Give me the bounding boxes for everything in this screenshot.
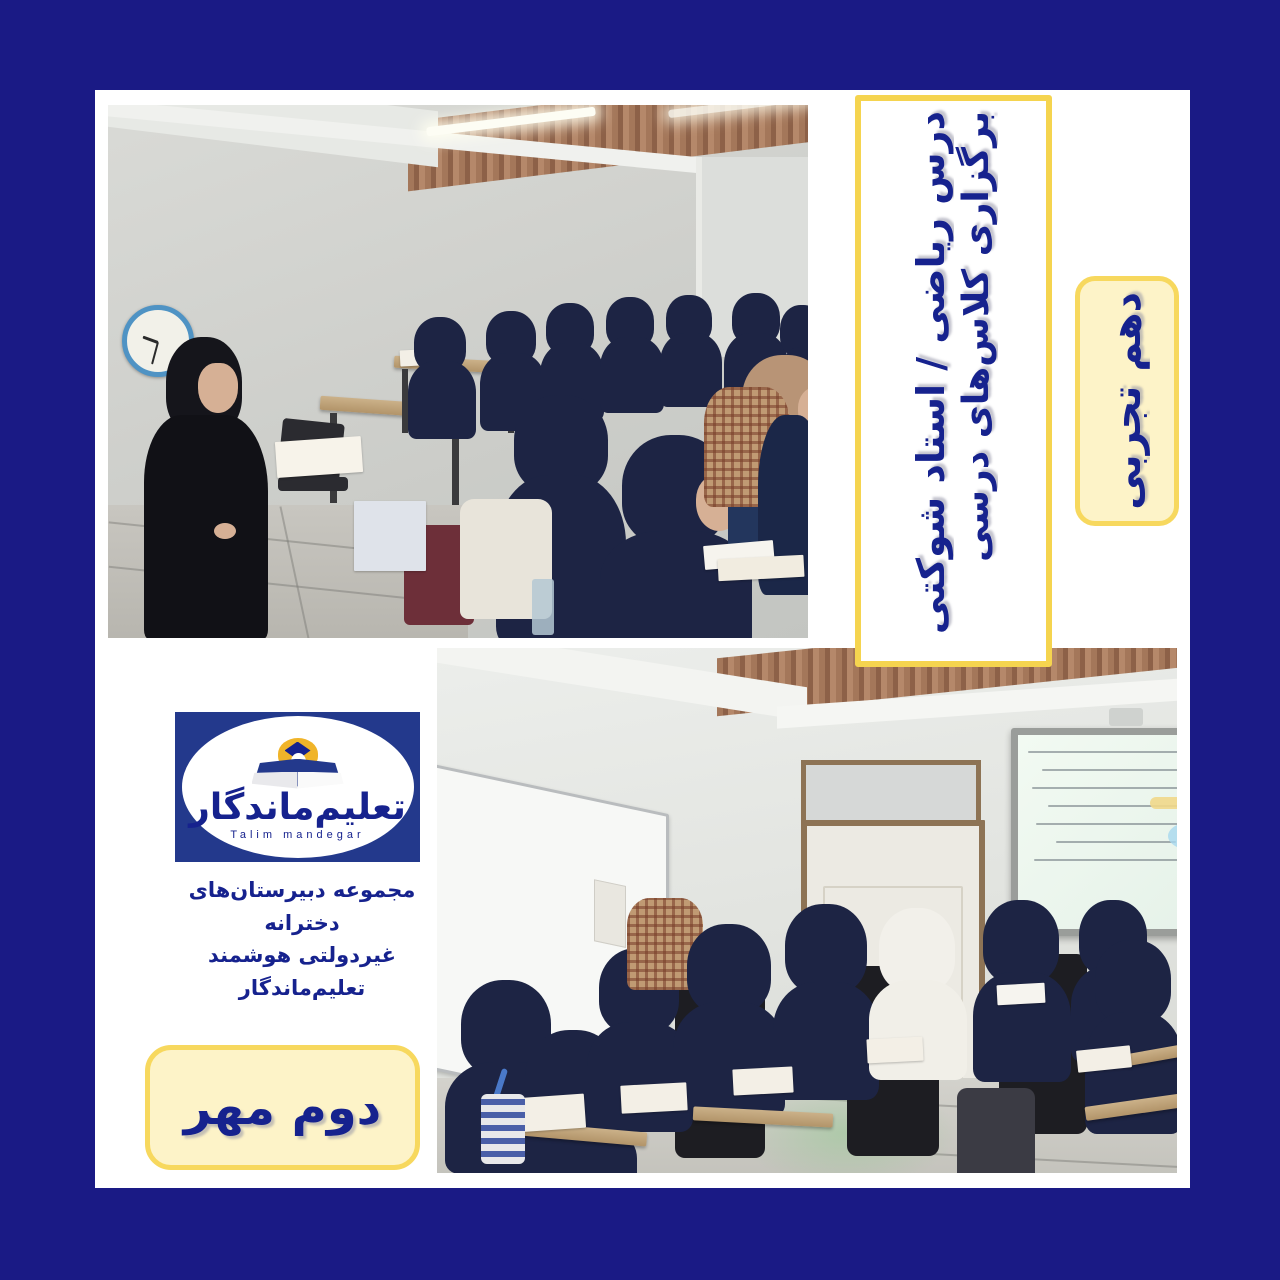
- logo-oval: تعلیم‌ماندگار Talim mandegar: [182, 716, 414, 858]
- organization-line-2: غیردولتی هوشمند تعلیم‌ماندگار: [157, 939, 447, 1004]
- notebook: [866, 1037, 923, 1064]
- screen-text-line: [1032, 787, 1177, 789]
- book-page-left-outer: [252, 772, 298, 789]
- water-bottle: [532, 579, 554, 635]
- screen-bubble: [1168, 821, 1177, 851]
- screen-text-line: [1042, 769, 1177, 771]
- teacher-hand: [214, 523, 236, 539]
- screen-text-line: [1034, 859, 1177, 861]
- student: [660, 295, 724, 403]
- student-body: [869, 980, 967, 1080]
- student: [600, 297, 666, 407]
- organization-text: مجموعه دبیرستان‌های دخترانه غیردولتی هوش…: [157, 874, 447, 1004]
- grade-chip: دهم تجربی: [1075, 276, 1179, 526]
- student-hijab: [687, 924, 771, 1014]
- book-page-right-outer: [298, 772, 344, 789]
- logo-wordmark: تعلیم‌ماندگار: [189, 790, 406, 826]
- backpack: [957, 1088, 1035, 1173]
- photo-scene-top: [108, 105, 808, 638]
- notebook: [997, 983, 1046, 1005]
- title-line-2: درس ریاضی / استاد شوکتی: [912, 111, 952, 634]
- smart-classroom-interactive-board-photo: [437, 648, 1177, 1173]
- notebook: [620, 1082, 687, 1113]
- photo-scene-bottom: [437, 648, 1177, 1173]
- student-body: [673, 1002, 785, 1118]
- date-chip: دوم مهر: [145, 1045, 420, 1170]
- date-chip-label: دوم مهر: [184, 1080, 382, 1136]
- brand-logo: تعلیم‌ماندگار Talim mandegar: [175, 712, 420, 862]
- student: [408, 317, 478, 427]
- notebook: [732, 1066, 793, 1095]
- title-line-1: برگزاری کلاس‌های درسی: [958, 111, 996, 562]
- student-hijab: [785, 904, 867, 994]
- teacher-face: [198, 363, 238, 413]
- logo-latin-name: Talim mandegar: [230, 829, 364, 841]
- chair: [278, 477, 348, 491]
- screen-text-line: [1036, 823, 1177, 825]
- screen-text-line: [1028, 751, 1177, 753]
- grade-chip-label: دهم تجربی: [1104, 292, 1150, 510]
- teacher-body: [144, 415, 268, 638]
- vertical-title-box: درس ریاضی / استاد شوکتی برگزاری کلاس‌های…: [855, 95, 1052, 667]
- classroom-math-lecture-photo: [108, 105, 808, 638]
- screen-highlight: [1150, 797, 1177, 809]
- student-body: [408, 361, 476, 439]
- folder: [354, 501, 426, 571]
- paper-sheet: [717, 555, 804, 581]
- organization-line-1: مجموعه دبیرستان‌های دخترانه: [157, 874, 447, 939]
- projector-icon: [1109, 708, 1143, 726]
- open-book: [275, 436, 363, 478]
- poster-card: درس ریاضی / استاد شوکتی برگزاری کلاس‌های…: [95, 90, 1190, 1188]
- teacher-standing: [136, 337, 276, 637]
- striped-sleeve: [481, 1094, 525, 1164]
- whiteboard-note: [594, 879, 626, 948]
- open-book-graduation-cap-icon: [255, 738, 341, 788]
- screen-text-line: [1056, 841, 1176, 843]
- student-back-view: [773, 904, 877, 1094]
